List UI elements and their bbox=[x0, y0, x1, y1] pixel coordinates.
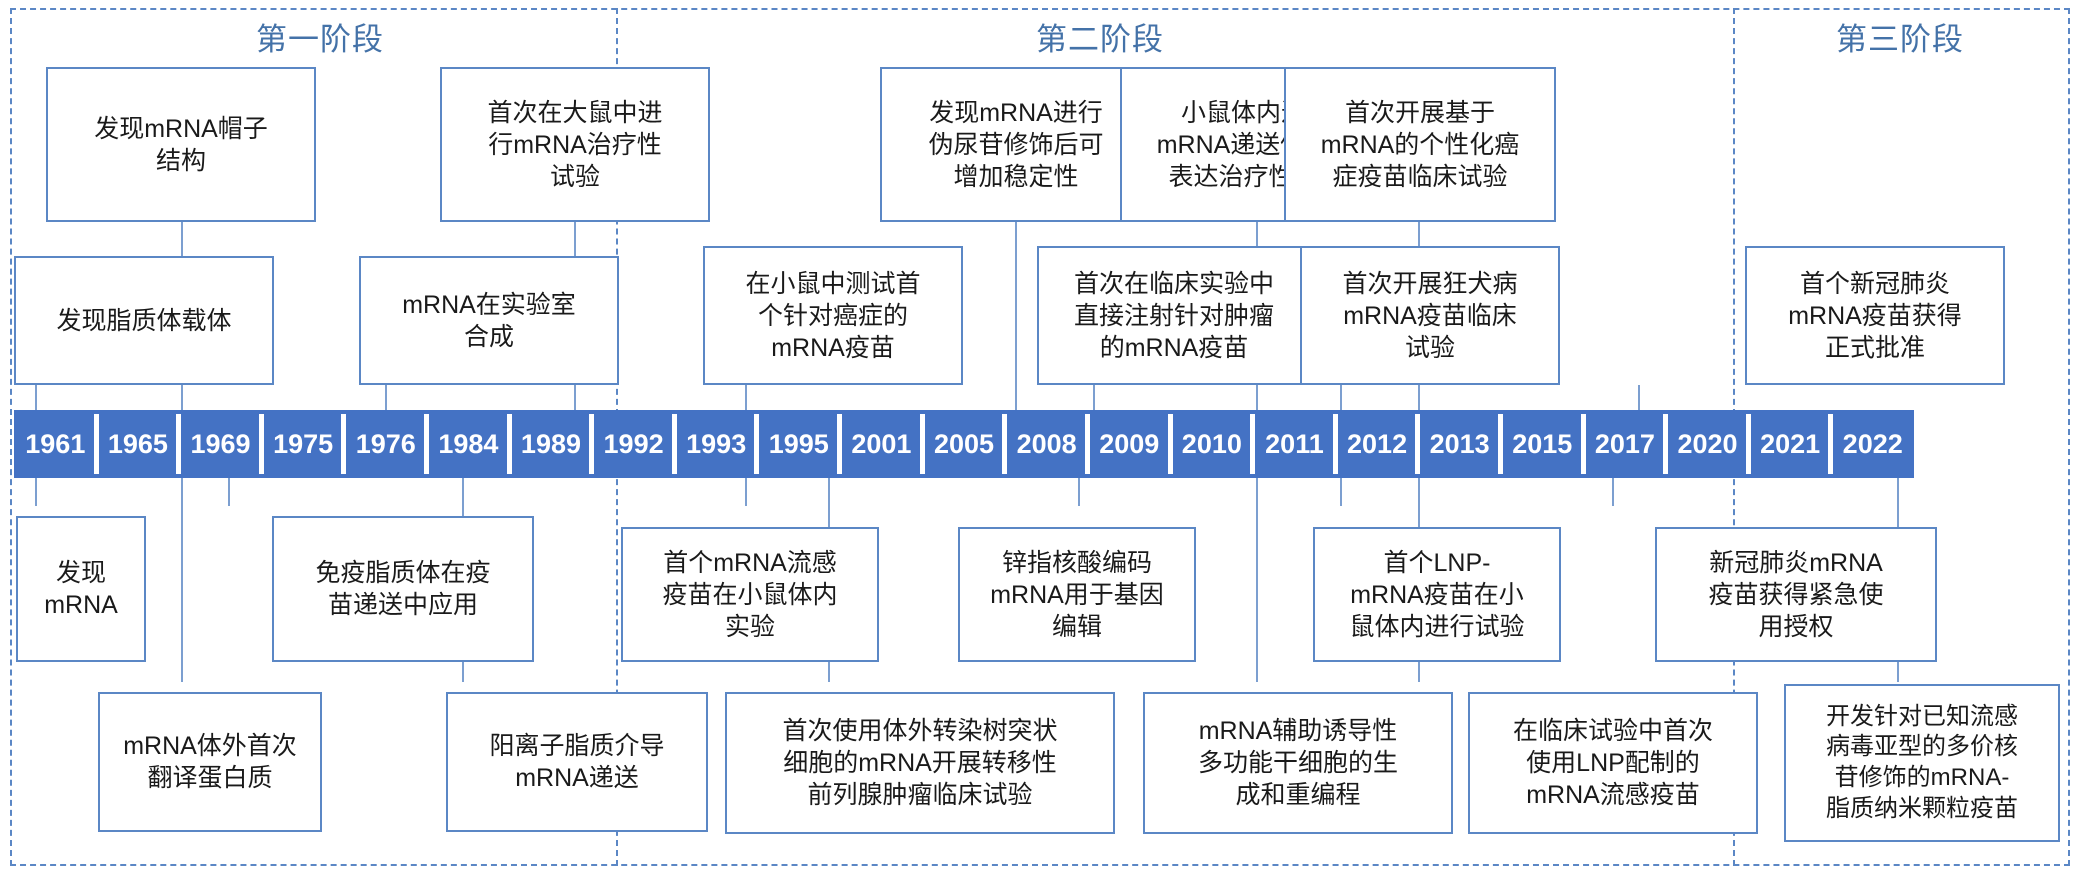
timeline-year-label: 2009 bbox=[1099, 429, 1159, 460]
timeline-year-2021[interactable]: 2021 bbox=[1749, 410, 1832, 478]
timeline-year-label: 2020 bbox=[1677, 429, 1737, 460]
timeline-year-label: 2005 bbox=[934, 429, 994, 460]
connector-stem bbox=[1340, 478, 1342, 506]
event-box: 免疫脂质体在疫 苗递送中应用 bbox=[272, 516, 534, 662]
timeline-year-label: 1992 bbox=[604, 429, 664, 460]
timeline-year-2001[interactable]: 2001 bbox=[840, 410, 923, 478]
timeline-year-1992[interactable]: 1992 bbox=[592, 410, 675, 478]
event-box: 首个LNP- mRNA疫苗在小 鼠体内进行试验 bbox=[1313, 527, 1561, 662]
timeline-year-1975[interactable]: 1975 bbox=[262, 410, 345, 478]
timeline-year-label: 1993 bbox=[686, 429, 746, 460]
event-box: 新冠肺炎mRNA 疫苗获得紧急使 用授权 bbox=[1655, 527, 1937, 662]
timeline-year-2013[interactable]: 2013 bbox=[1418, 410, 1501, 478]
event-box: 首次开展基于 mRNA的个性化癌 症疫苗临床试验 bbox=[1284, 67, 1556, 222]
event-box: 在临床试验中首次 使用LNP配制的 mRNA流感疫苗 bbox=[1468, 692, 1758, 834]
connector-stem bbox=[1340, 385, 1342, 411]
timeline-year-label: 1975 bbox=[273, 429, 333, 460]
timeline-year-1989[interactable]: 1989 bbox=[510, 410, 593, 478]
timeline-year-label: 1969 bbox=[190, 429, 250, 460]
connector-stem bbox=[228, 478, 230, 506]
timeline-year-2008[interactable]: 2008 bbox=[1005, 410, 1088, 478]
timeline-year-1969[interactable]: 1969 bbox=[179, 410, 262, 478]
timeline-year-label: 1965 bbox=[108, 429, 168, 460]
timeline-year-2010[interactable]: 2010 bbox=[1171, 410, 1254, 478]
phase-title-3: 第三阶段 bbox=[1800, 14, 2000, 59]
timeline-year-2005[interactable]: 2005 bbox=[923, 410, 1006, 478]
timeline-year-1965[interactable]: 1965 bbox=[97, 410, 180, 478]
timeline-year-2022[interactable]: 2022 bbox=[1831, 410, 1914, 478]
event-box: 发现脂质体载体 bbox=[14, 256, 274, 385]
timeline-year-1993[interactable]: 1993 bbox=[675, 410, 758, 478]
timeline-year-label: 1989 bbox=[521, 429, 581, 460]
timeline-year-label: 2021 bbox=[1760, 429, 1820, 460]
timeline-year-label: 2015 bbox=[1512, 429, 1572, 460]
timeline-year-label: 2013 bbox=[1430, 429, 1490, 460]
event-box: 首次使用体外转染树突状 细胞的mRNA开展转移性 前列腺肿瘤临床试验 bbox=[725, 692, 1115, 834]
event-box: 发现mRNA进行 伪尿苷修饰后可 增加稳定性 bbox=[880, 67, 1152, 222]
event-box: 锌指核酸编码 mRNA用于基因 编辑 bbox=[958, 527, 1196, 662]
timeline-year-label: 1995 bbox=[769, 429, 829, 460]
timeline-year-label: 2011 bbox=[1265, 429, 1324, 460]
timeline-year-label: 1976 bbox=[356, 429, 416, 460]
phase-title-1: 第一阶段 bbox=[220, 14, 420, 59]
timeline-year-label: 2001 bbox=[851, 429, 911, 460]
connector-stem bbox=[1612, 478, 1614, 506]
timeline-year-1995[interactable]: 1995 bbox=[757, 410, 840, 478]
connector-stem bbox=[35, 478, 37, 506]
timeline-year-2012[interactable]: 2012 bbox=[1336, 410, 1419, 478]
connector-stem bbox=[1638, 385, 1640, 411]
connector-stem bbox=[1093, 385, 1095, 411]
event-box: mRNA在实验室 合成 bbox=[359, 256, 619, 385]
event-box: 发现 mRNA bbox=[16, 516, 146, 662]
connector-stem bbox=[745, 385, 747, 411]
phase-title-2: 第二阶段 bbox=[1000, 14, 1200, 59]
connector-stem bbox=[1078, 478, 1080, 506]
connector-stem bbox=[181, 478, 183, 682]
connector-stem bbox=[745, 478, 747, 506]
connector-stem bbox=[1256, 478, 1258, 682]
timeline-year-label: 2010 bbox=[1182, 429, 1242, 460]
timeline-year-label: 1984 bbox=[438, 429, 498, 460]
timeline-year-1961[interactable]: 1961 bbox=[14, 410, 97, 478]
timeline-diagram: 第一阶段 第二阶段 第三阶段 发现mRNA帽子 结构 首次在大鼠中进 行mRNA… bbox=[0, 0, 2079, 878]
event-box: 开发针对已知流感 病毒亚型的多价核 苷修饰的mRNA- 脂质纳米颗粒疫苗 bbox=[1784, 684, 2060, 842]
event-box: 首次在大鼠中进 行mRNA治疗性 试验 bbox=[440, 67, 710, 222]
event-box: 首个mRNA流感 疫苗在小鼠体内 实验 bbox=[621, 527, 879, 662]
event-box: 在小鼠中测试首 个针对癌症的 mRNA疫苗 bbox=[703, 246, 963, 385]
event-box: 首个新冠肺炎 mRNA疫苗获得 正式批准 bbox=[1745, 246, 2005, 385]
event-box: 发现mRNA帽子 结构 bbox=[46, 67, 316, 222]
timeline-year-2017[interactable]: 2017 bbox=[1584, 410, 1667, 478]
timeline-bar: 1961196519691975197619841989199219931995… bbox=[14, 410, 1914, 478]
timeline-year-label: 2012 bbox=[1347, 429, 1407, 460]
timeline-year-2020[interactable]: 2020 bbox=[1666, 410, 1749, 478]
timeline-year-1976[interactable]: 1976 bbox=[344, 410, 427, 478]
connector-stem bbox=[35, 385, 37, 411]
timeline-year-label: 2008 bbox=[1017, 429, 1077, 460]
timeline-year-1984[interactable]: 1984 bbox=[427, 410, 510, 478]
event-box: mRNA辅助诱导性 多功能干细胞的生 成和重编程 bbox=[1143, 692, 1453, 834]
event-box: mRNA体外首次 翻译蛋白质 bbox=[98, 692, 322, 832]
timeline-year-label: 1961 bbox=[25, 429, 85, 460]
event-box: 阳离子脂质介导 mRNA递送 bbox=[446, 692, 708, 832]
event-box: 首次在临床实验中 直接注射针对肿瘤 的mRNA疫苗 bbox=[1037, 246, 1311, 385]
timeline-year-2015[interactable]: 2015 bbox=[1501, 410, 1584, 478]
event-box: 首次开展狂犬病 mRNA疫苗临床 试验 bbox=[1300, 246, 1560, 385]
timeline-year-label: 2017 bbox=[1595, 429, 1655, 460]
timeline-year-label: 2022 bbox=[1843, 429, 1903, 460]
connector-stem bbox=[385, 385, 387, 411]
timeline-year-2009[interactable]: 2009 bbox=[1088, 410, 1171, 478]
connector-stem bbox=[1015, 221, 1017, 410]
timeline-year-2011[interactable]: 2011 bbox=[1253, 410, 1336, 478]
